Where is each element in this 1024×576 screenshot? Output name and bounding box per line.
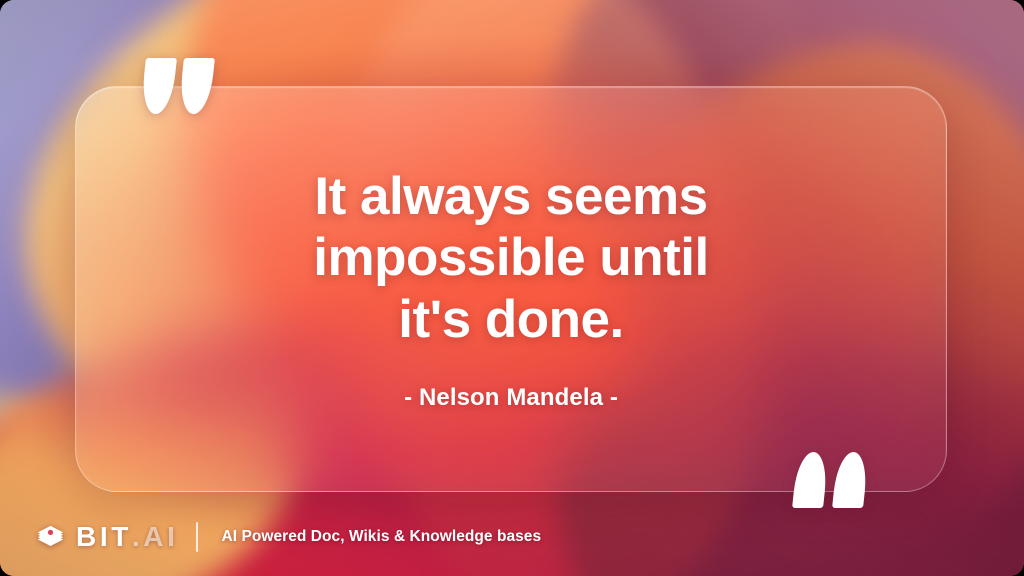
quote-line-1: It always seems bbox=[313, 166, 708, 227]
brand-name-secondary: AI bbox=[143, 523, 178, 551]
brand-divider bbox=[196, 522, 198, 552]
quote-text: It always seems impossible until it's do… bbox=[267, 166, 754, 350]
open-quote-icon bbox=[143, 58, 212, 114]
quote-line-2: impossible until bbox=[313, 227, 708, 288]
close-quote-glyph-left bbox=[792, 452, 829, 508]
brand-lockup[interactable]: BIT . AI AI Powered Doc, Wikis & Knowled… bbox=[36, 522, 541, 552]
brand-tagline: AI Powered Doc, Wikis & Knowledge bases bbox=[222, 528, 542, 546]
brand-name-dot: . bbox=[132, 523, 143, 551]
close-quote-glyph-right bbox=[832, 452, 869, 508]
open-quote-glyph-right bbox=[178, 58, 215, 114]
glass-quote-card: It always seems impossible until it's do… bbox=[75, 86, 947, 492]
quote-line-3: it's done. bbox=[313, 289, 708, 350]
close-quote-icon bbox=[795, 452, 866, 508]
open-quote-glyph-left bbox=[140, 58, 177, 114]
stacked-layers-icon bbox=[36, 523, 65, 552]
quote-author: - Nelson Mandela - bbox=[404, 384, 618, 412]
brand-name-primary: BIT bbox=[76, 523, 132, 551]
brand-wordmark: BIT . AI bbox=[76, 523, 179, 551]
quote-card-canvas: It always seems impossible until it's do… bbox=[0, 0, 1024, 576]
